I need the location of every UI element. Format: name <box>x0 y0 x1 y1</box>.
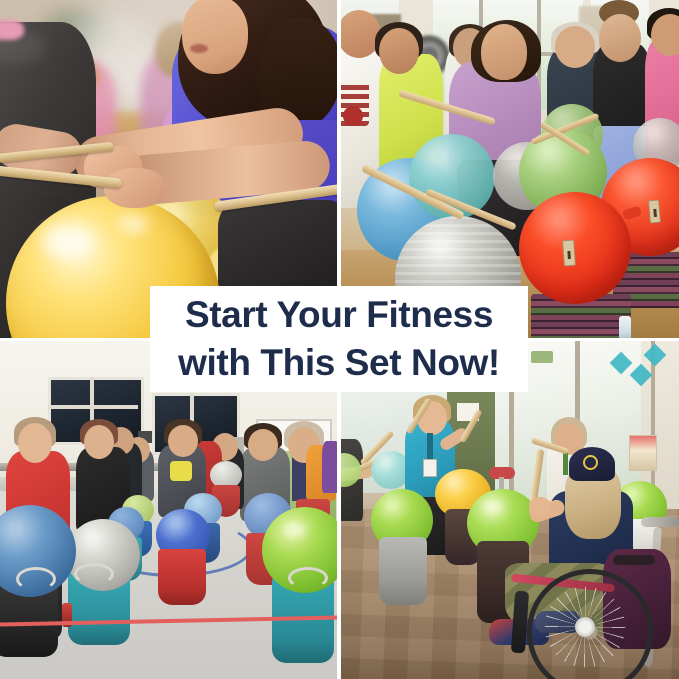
promo-banner: Start Your Fitness with This Set Now! <box>150 286 528 392</box>
tr-water-bottle <box>619 316 631 338</box>
headline-line-1: Start Your Fitness <box>185 292 493 338</box>
product-promo-collage: Start Your Fitness with This Set Now! <box>0 0 679 679</box>
tl-collar-accent <box>0 20 24 40</box>
bl-red-bucket-center <box>158 549 206 605</box>
tr-person-head-2 <box>379 28 419 74</box>
bl-person-purple-top <box>322 441 337 493</box>
bl-green-ball-highlight <box>284 523 306 537</box>
tr-ball-hang-tag-2 <box>648 200 661 224</box>
tr-ball-hang-tag <box>562 240 576 267</box>
bl-person-head-8 <box>18 423 52 463</box>
tr-person-head-5 <box>555 26 595 68</box>
br-person-lanyard <box>563 451 568 475</box>
br-hat-logo <box>583 455 598 470</box>
bl-person-head-4 <box>168 425 198 457</box>
bl-bucket-handle <box>16 567 56 591</box>
tr-shirt-graphic-ball <box>343 106 363 126</box>
br-exit-sign <box>531 351 553 363</box>
bl-person-head-2 <box>248 429 278 461</box>
br-grey-can <box>379 537 427 605</box>
tr-person-head-6 <box>599 14 641 62</box>
br-wall-poster <box>629 435 657 471</box>
tl-person-face <box>182 0 248 74</box>
tr-person-head-4 <box>481 24 527 80</box>
bl-bucket-handle-3 <box>288 567 328 589</box>
tr-red-exercise-ball <box>519 192 631 304</box>
bl-bucket-handle-2 <box>74 563 114 585</box>
bl-shirt-heart-graphic <box>170 461 192 481</box>
bl-person-head-7 <box>84 425 114 459</box>
br-backpack-strap <box>613 555 655 565</box>
br-instructor-badge <box>423 459 437 477</box>
br-ball-highlight <box>483 501 503 513</box>
tl-ball-specular-highlight-2 <box>118 214 148 234</box>
br-wheelchair-user-hand <box>529 497 551 517</box>
tl-person-charcoal-shirt <box>0 22 96 222</box>
tl-ball-specular-highlight <box>42 224 94 258</box>
br-chair-back <box>641 517 679 527</box>
tl-person-lips <box>190 44 208 53</box>
headline-line-2: with This Set Now! <box>178 340 500 386</box>
br-wheelchair-hub <box>575 617 595 637</box>
